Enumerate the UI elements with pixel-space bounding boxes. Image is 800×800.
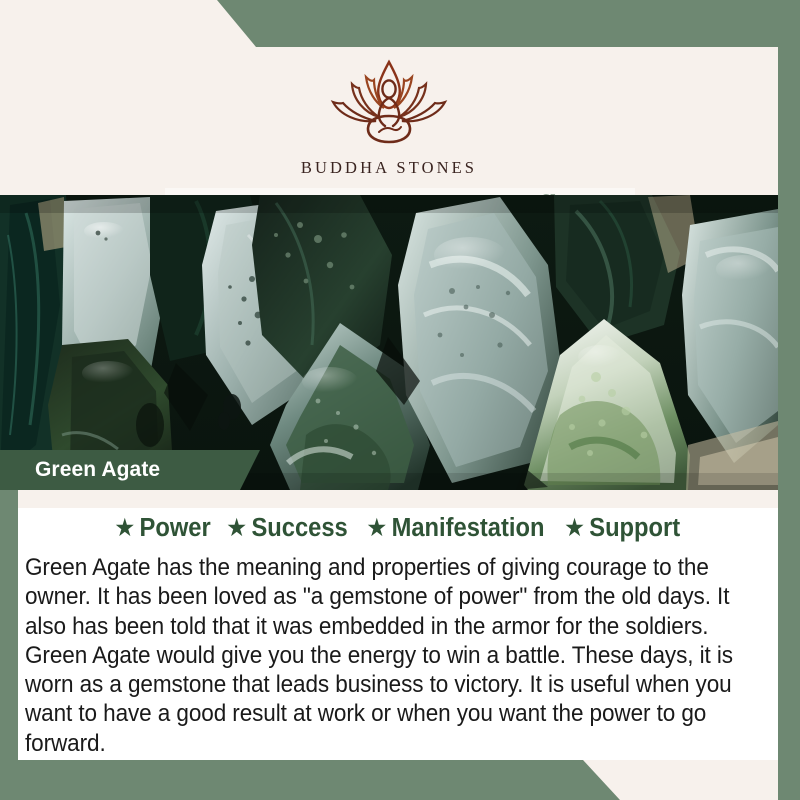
benefit-label: Success — [252, 514, 348, 543]
panel-top-tint — [18, 490, 778, 508]
brand-logo: BUDDHA STONES — [0, 55, 778, 178]
star-icon: ★ — [228, 517, 246, 539]
lotus-meditation-icon — [0, 55, 778, 156]
benefit-label: Support — [589, 514, 680, 543]
green-agate-stones-photo — [0, 195, 778, 490]
benefit-label: Manifestation — [392, 514, 545, 543]
frame-left-lower-block — [0, 760, 40, 800]
benefits-list: ★ Power ★ Success ★ Manifestation ★ Supp… — [18, 508, 778, 548]
benefit-item-support: ★ Support — [565, 514, 680, 543]
header: BUDDHA STONES Stone Features & Benefits — [0, 47, 778, 195]
stone-description: Green Agate has the meaning and properti… — [25, 554, 739, 759]
star-icon: ★ — [565, 517, 583, 539]
frame-left-bar — [0, 490, 18, 780]
benefit-item-power: ★ Power — [116, 514, 211, 543]
star-icon: ★ — [116, 517, 134, 539]
frame-bottom-bar — [0, 760, 800, 800]
benefit-item-success: ★ Success — [228, 514, 348, 543]
frame-right-bar — [778, 0, 800, 800]
benefit-label: Power — [139, 514, 210, 543]
brand-name: BUDDHA STONES — [0, 158, 778, 178]
frame-top-bar — [0, 0, 800, 47]
star-icon: ★ — [368, 517, 386, 539]
stone-features-poster: BUDDHA STONES Stone Features & Benefits — [0, 0, 800, 800]
benefit-item-manifestation: ★ Manifestation — [368, 514, 545, 543]
stone-name: Green Agate — [35, 458, 160, 482]
